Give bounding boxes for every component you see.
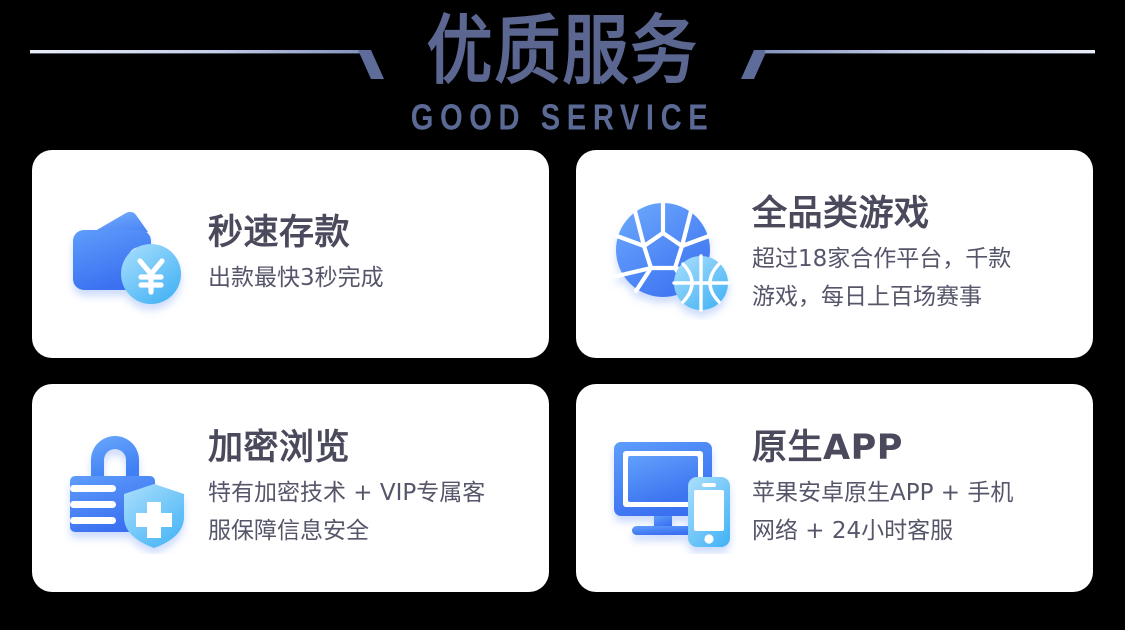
card-description-line-2: 游戏，每日上百场赛事 <box>752 278 1077 316</box>
soccer-basketball-icon <box>606 188 738 320</box>
feature-card-games[interactable]: 全品类游戏 超过18家合作平台，千款 游戏，每日上百场赛事 <box>576 150 1093 358</box>
card-title: 全品类游戏 <box>752 192 1077 236</box>
card-description-line-2: 网络 + 24小时客服 <box>752 512 1077 550</box>
card-description-line-1: 苹果安卓原生APP + 手机 <box>752 474 1077 512</box>
page-title: 优质服务 <box>0 8 1125 95</box>
page-header: 优质服务 GOOD SERVICE <box>0 0 1125 150</box>
card-title: 秒速存款 <box>208 211 533 255</box>
feature-card-native-app[interactable]: 原生APP 苹果安卓原生APP + 手机 网络 + 24小时客服 <box>576 384 1093 592</box>
page-subtitle: GOOD SERVICE <box>34 98 1092 137</box>
lock-shield-icon <box>62 422 194 554</box>
card-description-line-1: 特有加密技术 + VIP专属客 <box>208 474 533 512</box>
card-title: 加密浏览 <box>208 426 533 470</box>
card-text-games: 全品类游戏 超过18家合作平台，千款 游戏，每日上百场赛事 <box>752 192 1093 316</box>
card-text-deposit: 秒速存款 出款最快3秒完成 <box>208 211 549 297</box>
feature-card-deposit[interactable]: 秒速存款 出款最快3秒完成 <box>32 150 549 358</box>
header-title-block: 优质服务 GOOD SERVICE <box>0 8 1125 132</box>
feature-card-encryption[interactable]: 加密浏览 特有加密技术 + VIP专属客 服保障信息安全 <box>32 384 549 592</box>
wallet-yen-icon <box>62 188 194 320</box>
card-description-line-1: 超过18家合作平台，千款 <box>752 240 1077 278</box>
monitor-phone-icon <box>606 422 738 554</box>
card-title: 原生APP <box>752 426 1077 470</box>
card-text-native-app: 原生APP 苹果安卓原生APP + 手机 网络 + 24小时客服 <box>752 426 1093 550</box>
card-description: 出款最快3秒完成 <box>208 259 533 297</box>
card-text-encryption: 加密浏览 特有加密技术 + VIP专属客 服保障信息安全 <box>208 426 549 550</box>
feature-card-grid: 秒速存款 出款最快3秒完成 <box>32 150 1093 592</box>
card-description-line-2: 服保障信息安全 <box>208 512 533 550</box>
